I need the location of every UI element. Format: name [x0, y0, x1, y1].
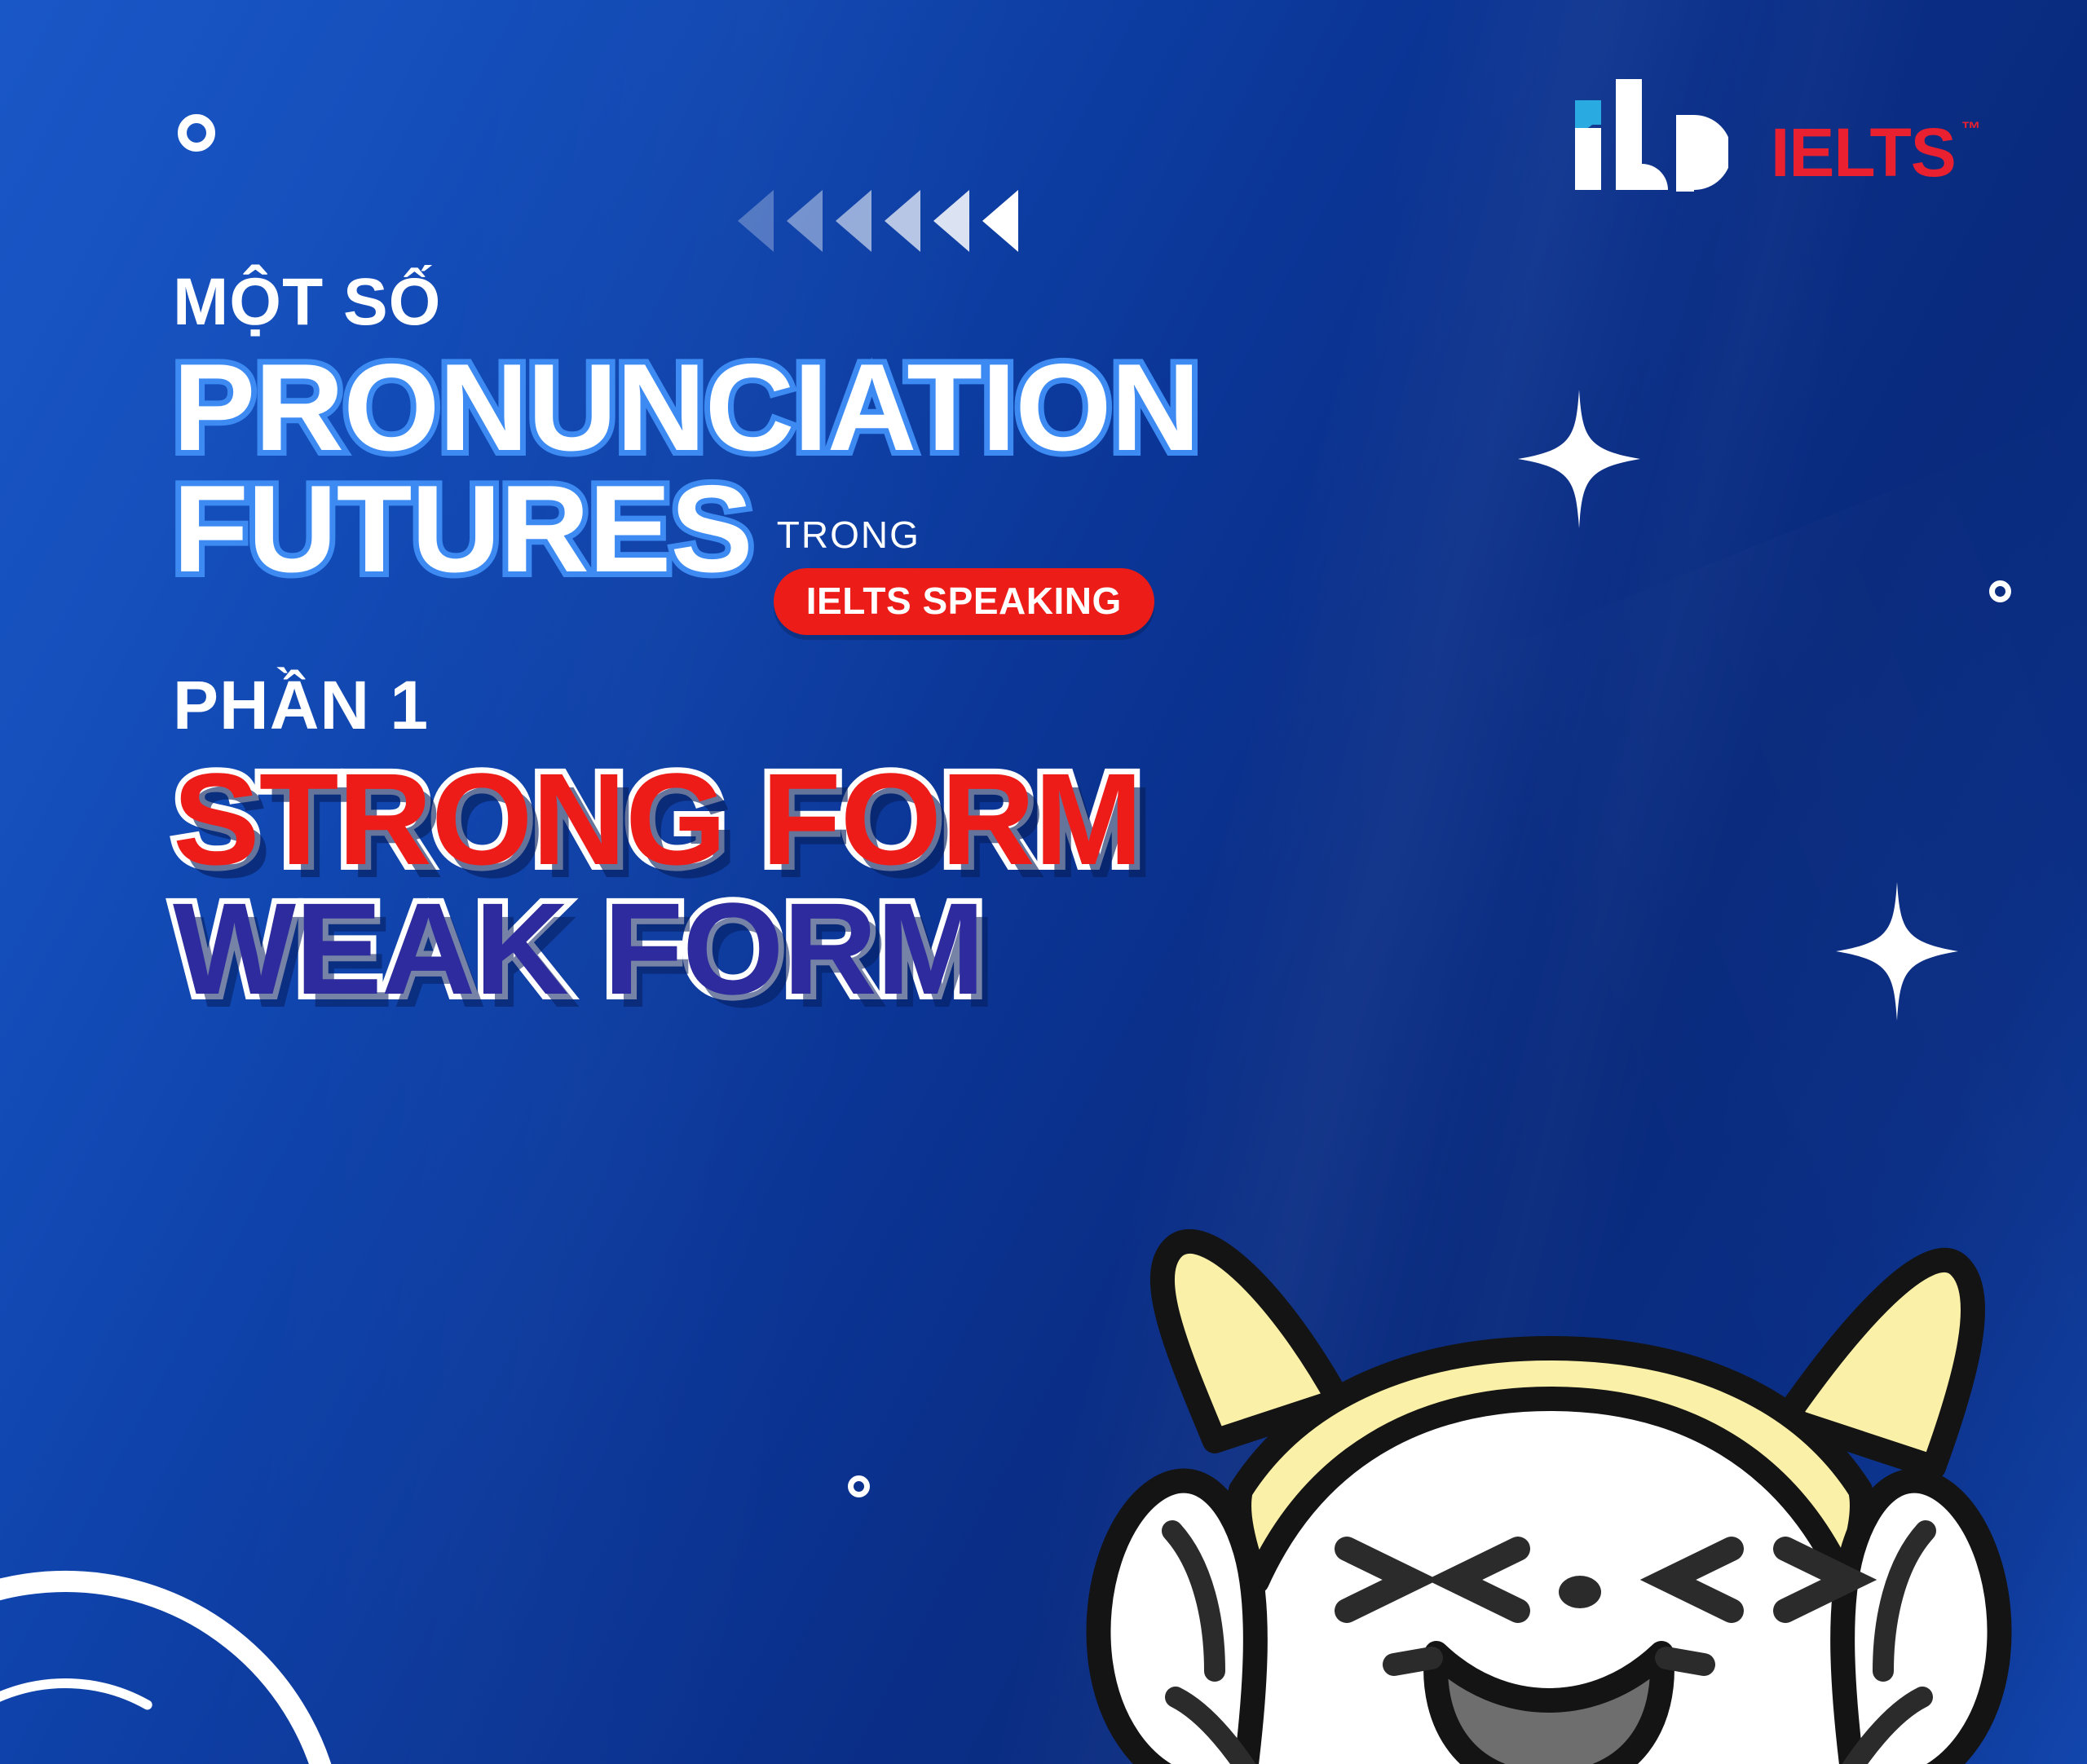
kicker-text: MỘT SỐ: [173, 269, 1559, 336]
ring-decor-bottom: [848, 1475, 870, 1497]
title-pronunciation: PRONUNCIATION: [173, 347, 1559, 469]
arrow-left-icon: [982, 190, 1018, 252]
ring-decor-top-left: [178, 114, 215, 152]
sparkle-icon: [1836, 882, 1958, 1021]
ilp-logo-icon: [1573, 77, 1728, 192]
emphasis-weak-form: WEAK FORM: [173, 882, 1559, 1015]
cat-mascot-illustration: [970, 1197, 2087, 1764]
arrow-left-icon: [933, 190, 969, 252]
emphasis-strong-form: STRONG FORM: [173, 752, 1559, 885]
headline-block: MỘT SỐ PRONUNCIATION FUTURES TRONG IELTS…: [173, 269, 1559, 1015]
arrow-left-icon: [836, 190, 871, 252]
part-label: PHẦN 1: [173, 671, 1559, 739]
arrow-left-icon: [885, 190, 920, 252]
preposition-trong: TRONG: [777, 516, 1154, 553]
arrow-row-decor: [738, 190, 1018, 252]
arrow-left-icon: [738, 190, 774, 252]
title-futures: FUTURES: [173, 469, 752, 590]
title-line-2-row: FUTURES TRONG IELTS SPEAKING: [173, 469, 1559, 635]
trademark-symbol: ™: [1961, 120, 1980, 139]
ielts-text: IELTS: [1771, 114, 1956, 191]
corner-arc-decor: [0, 1508, 375, 1764]
ielts-speaking-badge: IELTS SPEAKING: [774, 568, 1154, 635]
poster-canvas: IELTS ™ MỘT SỐ PRONUNCIATION FUTURES TRO…: [0, 0, 2087, 1764]
brand-logo-lockup: IELTS ™: [1573, 77, 1956, 192]
title-line-1-wrap: PRONUNCIATION: [173, 347, 1559, 469]
arrow-left-icon: [787, 190, 823, 252]
trong-badge-column: TRONG IELTS SPEAKING: [774, 469, 1154, 635]
ring-decor-right: [1989, 580, 2011, 602]
ielts-wordmark: IELTS ™: [1771, 118, 1956, 187]
